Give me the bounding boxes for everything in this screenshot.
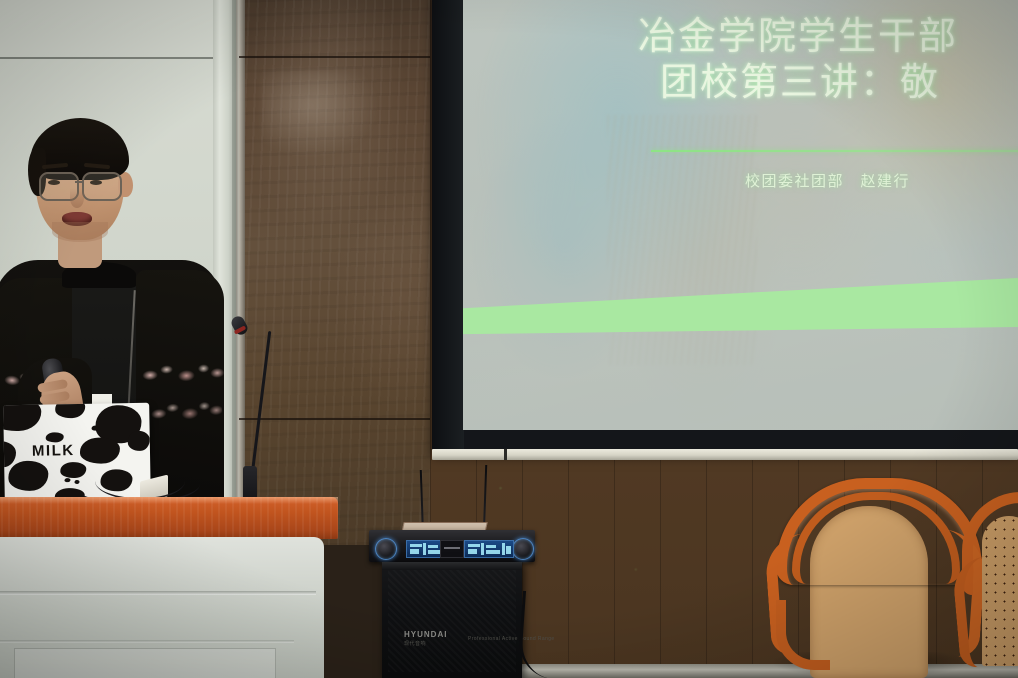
stone-seam-top [239, 56, 452, 58]
slide-title: 冶金学院学生干部 团校第三讲：敬 [638, 14, 1018, 107]
jacket-floral-trim-right [139, 355, 225, 391]
screen-left-border [432, 0, 464, 450]
speaker-brand-label: HYUNDAI [404, 630, 447, 639]
glasses-bridge [75, 181, 84, 183]
slide-divider-rule [651, 150, 1018, 152]
speaker-cabinet-top [382, 562, 522, 570]
receiver-center-panel [440, 540, 464, 558]
stone-sheen [262, 70, 382, 160]
gooseneck-mic-head [229, 314, 249, 337]
speaker-brand-label-cn: 现代音响 [404, 640, 426, 647]
chair2-arm-left [951, 553, 1018, 668]
slide-title-line2: 团校第三讲：敬 [638, 60, 1018, 106]
projection-screen-surface: 冶金学院学生干部 团校第三讲：敬 校团委社团部 赵建行 [463, 0, 1018, 430]
slide-title-line1: 冶金学院学生干部 [638, 16, 958, 58]
receiver-knob-left[interactable] [375, 538, 397, 560]
screen-bar-clip [504, 449, 507, 460]
podium-groove-upper [0, 591, 316, 595]
glasses-lens-right [82, 172, 122, 201]
receiver-knob-right[interactable] [512, 538, 534, 560]
gooseneck-stem [250, 331, 271, 480]
gooseneck-microphone [232, 316, 272, 502]
slide-subtitle: 校团委社团部 赵建行 [745, 170, 910, 191]
podium-top-highlight [0, 497, 338, 504]
wall-seam [0, 57, 232, 59]
screen-weight-bar [432, 449, 1018, 460]
mic-cable-loop [95, 462, 185, 500]
chair-arm-scroll [776, 600, 830, 670]
bentwood-chair-primary [762, 478, 974, 678]
bentwood-chair-secondary [962, 486, 1018, 678]
chin-shadow [52, 222, 108, 242]
podium-front-panel [14, 648, 276, 678]
receiver-display-channel-2 [464, 540, 514, 558]
laptop-label: MILK [32, 442, 75, 460]
nose [70, 188, 84, 208]
podium-groove-lower [0, 640, 294, 643]
speaker-cabinet [382, 562, 522, 678]
photo-scene: 冶金学院学生干部 团校第三讲：敬 校团委社团部 赵建行 [0, 0, 1018, 678]
